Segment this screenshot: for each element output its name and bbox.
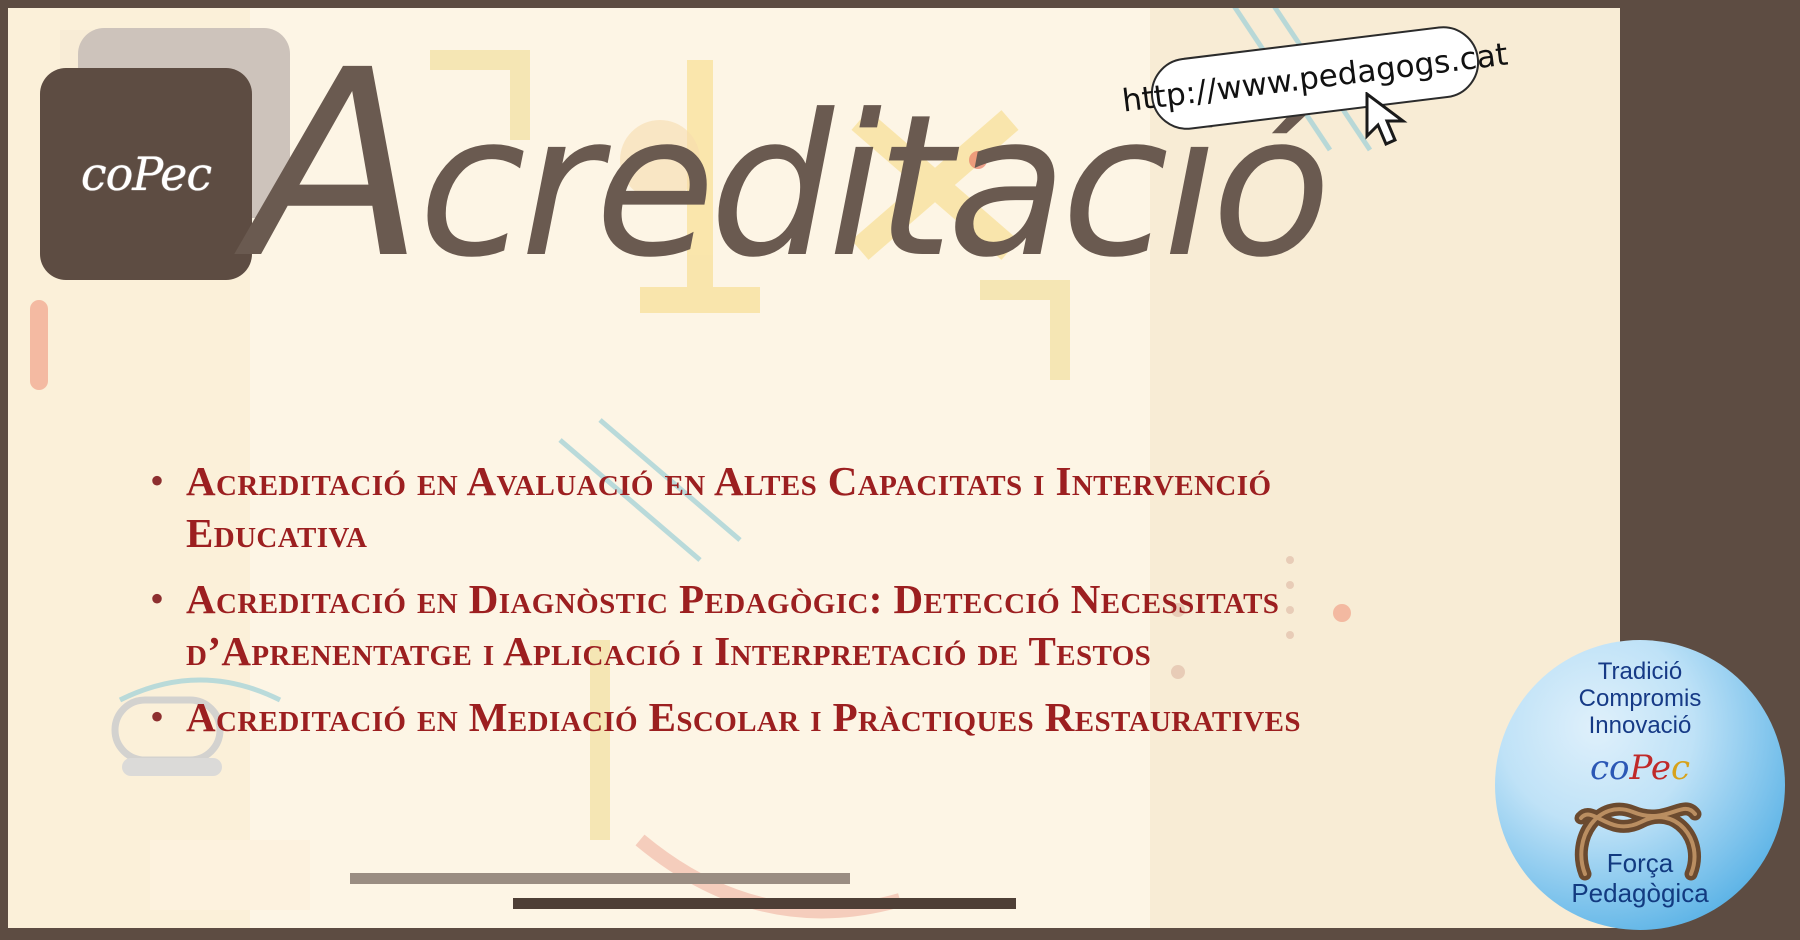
list-item: • Acreditació en Mediació Escolar i Pràc… [150,691,1450,743]
bullet-glyph: • [150,691,186,743]
badge-line-innovacio: Innovació [1495,712,1785,739]
bullet-list: • Acreditació en Avaluació en Altes Capa… [150,455,1450,757]
frame-top-edge [0,0,1620,8]
badge-line-pedagogica: Pedagògica [1495,878,1785,908]
forca-pedagogica-badge: Tradició Compromis Innovació coPec Força… [1495,640,1785,930]
page-title-initial: A [248,15,419,315]
list-item: • Acreditació en Diagnòstic Pedagògic: D… [150,573,1450,677]
badge-bottom-text: Força Pedagògica [1495,848,1785,908]
badge-line-compromis: Compromis [1495,685,1785,712]
frame-bottom-edge [0,928,1620,940]
badge-top-text: Tradició Compromis Innovació [1495,658,1785,739]
list-item-label: Acreditació en Avaluació en Altes Capaci… [186,455,1450,559]
decorative-rule-dark [513,898,1016,909]
frame-left-edge [0,0,8,940]
bullet-glyph: • [150,455,186,559]
badge-line-forca: Força [1495,848,1785,878]
copec-logo-box: coPec [40,68,252,280]
bullet-glyph: • [150,573,186,677]
slide-canvas: coPec Acreditació http://www.pedagogs.ca… [0,0,1620,940]
badge-line-tradicio: Tradició [1495,658,1785,685]
list-item-label: Acreditació en Diagnòstic Pedagògic: Det… [186,573,1450,677]
list-item: • Acreditació en Avaluació en Altes Capa… [150,455,1450,559]
decorative-rule-light [350,873,850,884]
list-item-label: Acreditació en Mediació Escolar i Pràcti… [186,691,1301,743]
copec-logo-label: coPec [40,68,252,280]
